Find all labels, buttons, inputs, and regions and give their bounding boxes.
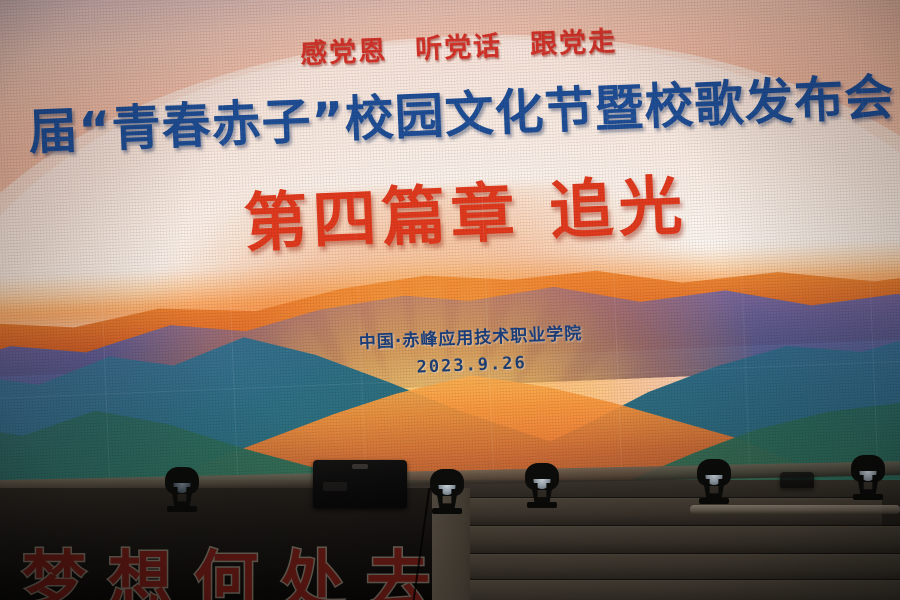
- screen-text-block: 感党恩听党话跟党走 届“青春赤子”校园文化节暨校歌发布会 第四篇章追光 中国·赤…: [0, 0, 900, 528]
- moving-head-light-4: [692, 456, 736, 504]
- led-video-wall: 感党恩听党话跟党走 届“青春赤子”校园文化节暨校歌发布会 第四篇章追光 中国·赤…: [0, 0, 900, 528]
- stage-step: [400, 580, 900, 600]
- moving-head-light-1: [160, 464, 204, 512]
- moving-head-light-5: [846, 452, 890, 500]
- stage-photo: 感党恩听党话跟党走 届“青春赤子”校园文化节暨校歌发布会 第四篇章追光 中国·赤…: [0, 0, 900, 600]
- moving-head-light-3: [520, 460, 564, 508]
- banner-calligraphy: 梦想何处去: [22, 530, 452, 600]
- stage-step: [440, 526, 900, 556]
- slogan-part-3: 跟党走: [530, 26, 618, 61]
- moving-head-light-2: [425, 466, 469, 514]
- chapter-name: 追光: [548, 169, 689, 249]
- slogan-part-1: 感党恩: [300, 36, 388, 71]
- stage-steps: [420, 490, 900, 600]
- stage-monitor-right: [780, 472, 814, 488]
- slogan-part-2: 听党话: [415, 31, 503, 66]
- stage-monitor-left: [313, 460, 407, 508]
- chapter-number: 第四篇章: [242, 176, 521, 261]
- chapter-title: 第四篇章追光: [0, 143, 900, 276]
- stage-step-rail: [690, 505, 900, 514]
